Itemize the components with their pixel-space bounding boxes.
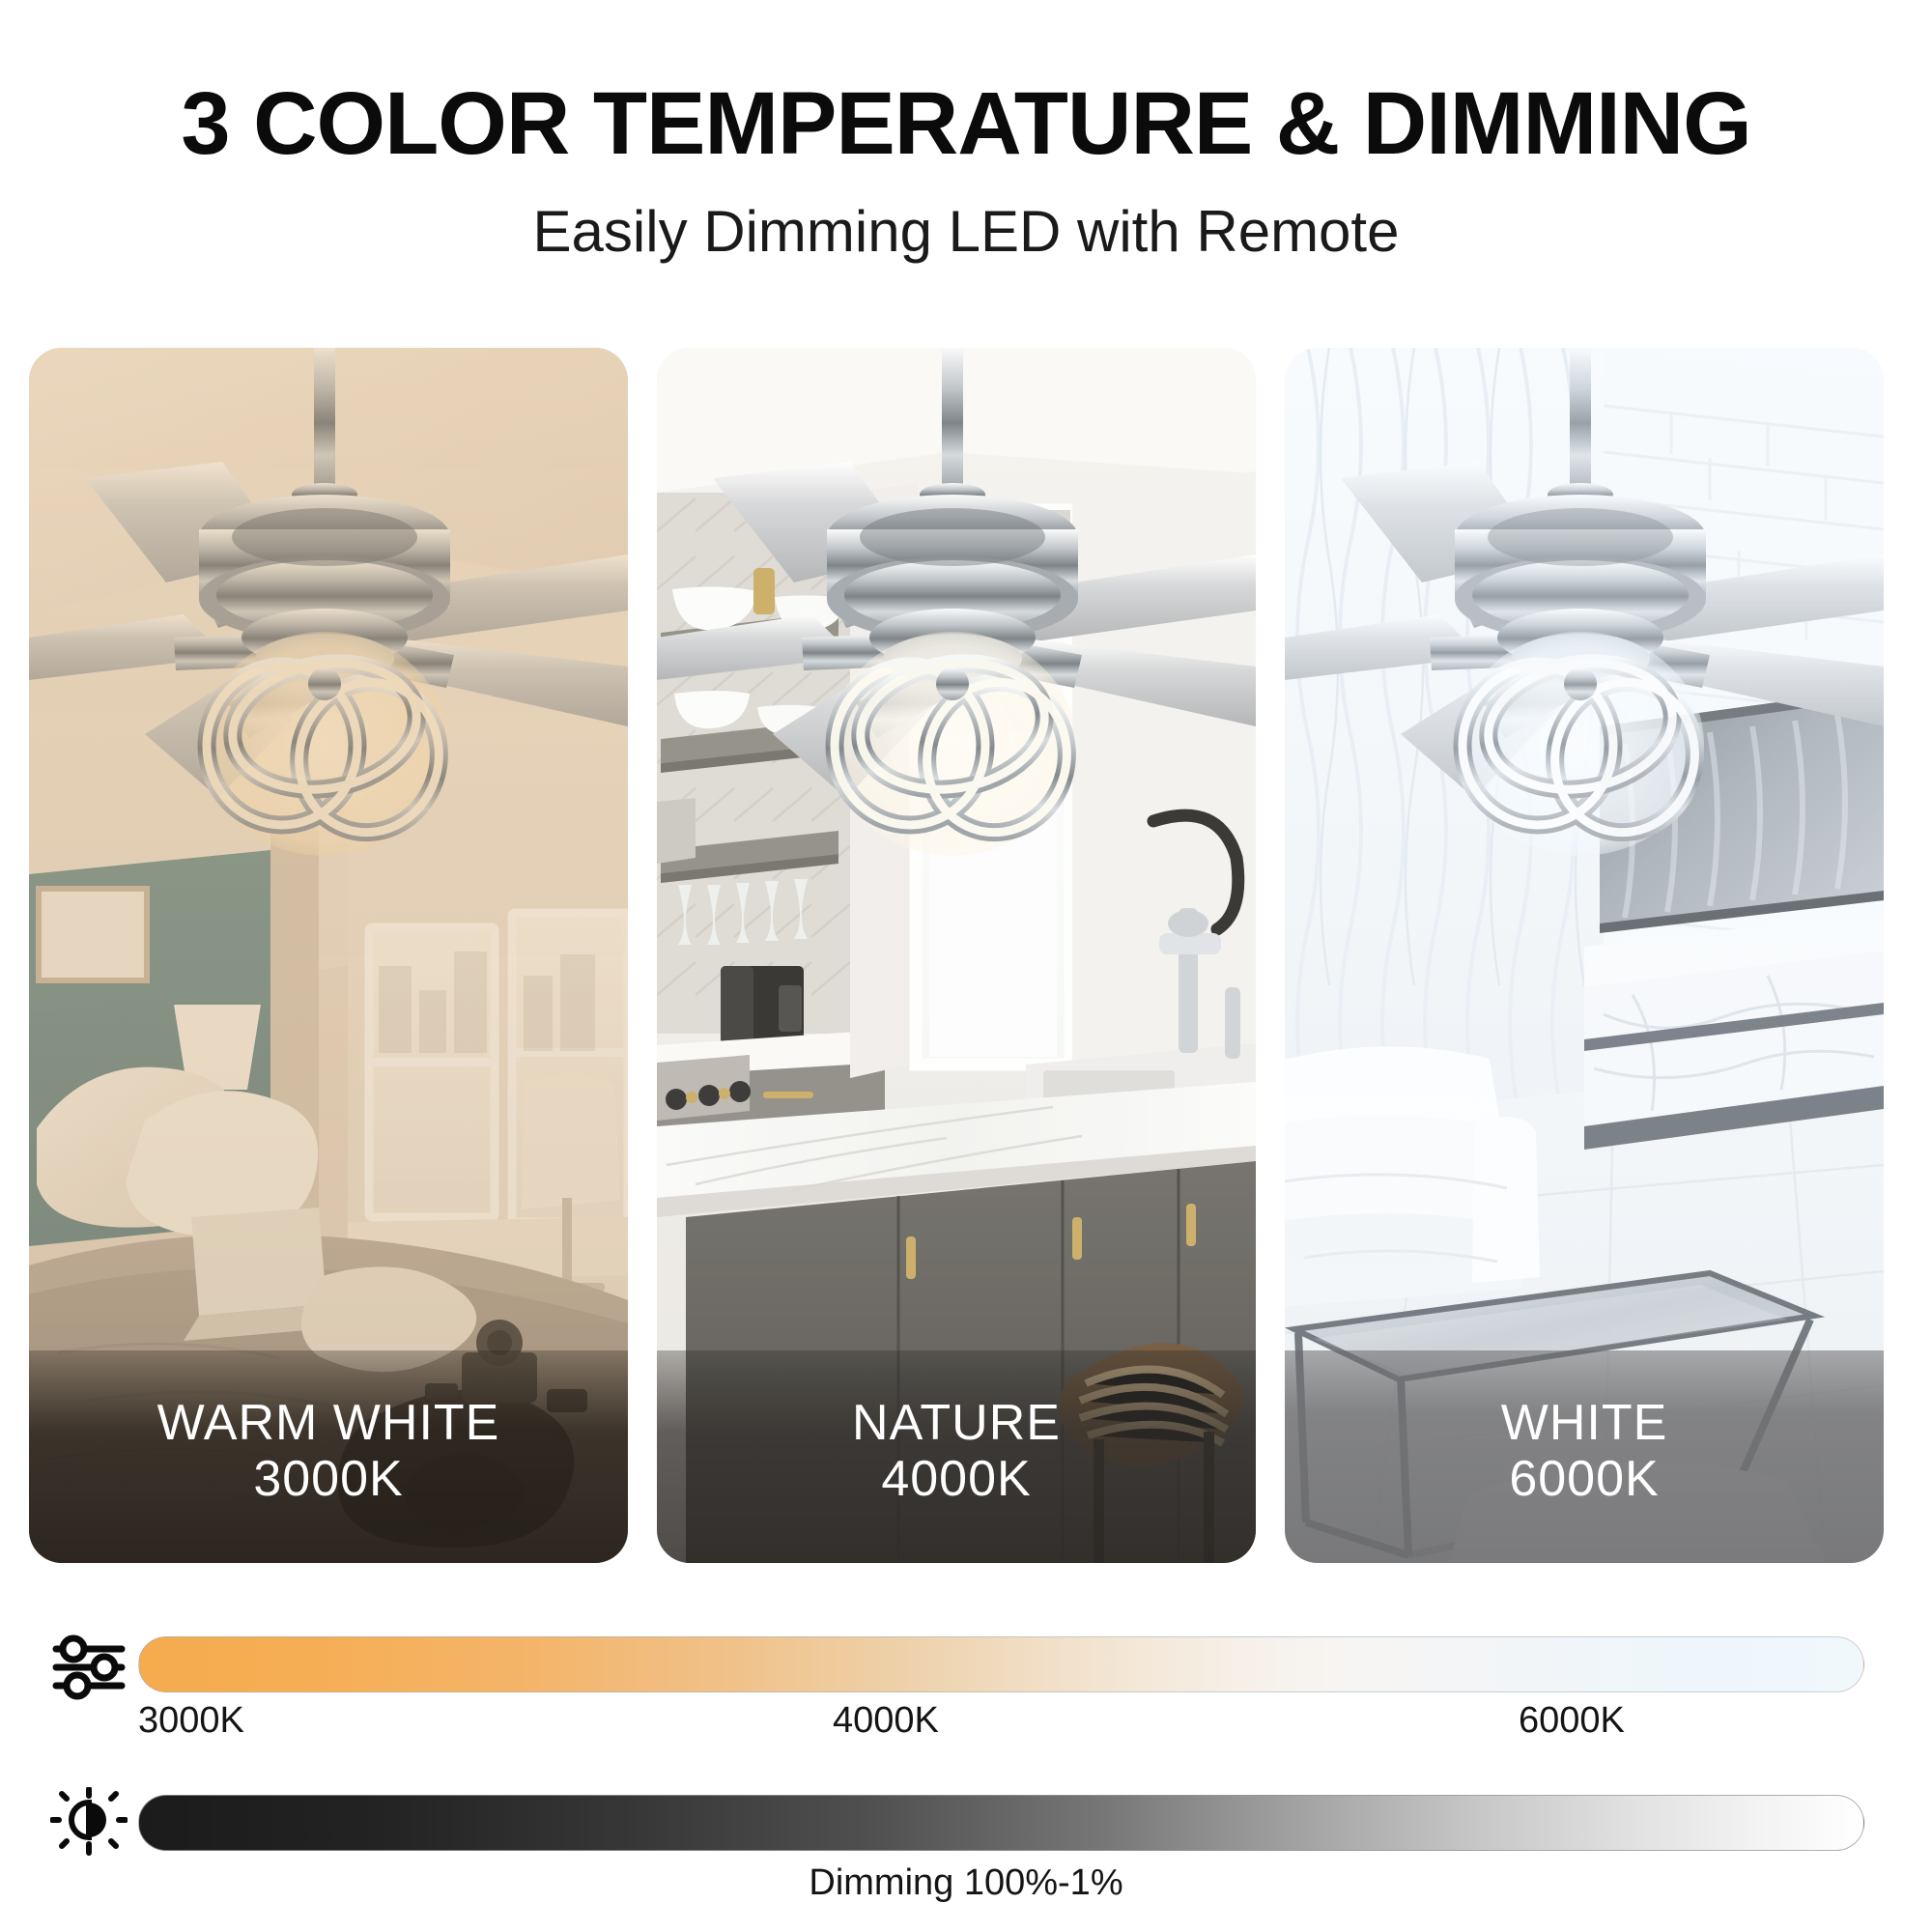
tick-label-4000k: 4000K — [833, 1700, 939, 1742]
card-temperature: 4000K — [881, 1451, 1031, 1507]
ceiling-fan-nature — [657, 348, 1256, 889]
sliders-icon — [50, 1629, 128, 1706]
card-caption-white: WHITE 6000K — [1285, 1350, 1884, 1563]
scene-card-nature[interactable]: NATURE 4000K — [657, 348, 1256, 1563]
page-subtitle: Easily Dimming LED with Remote — [0, 168, 1932, 261]
temperature-bar-row: 3000K 4000K 6000K — [0, 1623, 1932, 1739]
dimming-caption: Dimming 100%-1% — [0, 1862, 1932, 1904]
infographic-page: 3 COLOR TEMPERATURE & DIMMING Easily Dim… — [0, 0, 1932, 1932]
dimming-bar-row: Dimming 100%-1% — [0, 1781, 1932, 1897]
card-label: NATURE — [852, 1395, 1061, 1451]
card-caption-warm-white: WARM WHITE 3000K — [29, 1350, 628, 1563]
ceiling-fan-white — [1285, 348, 1884, 889]
card-caption-nature: NATURE 4000K — [657, 1350, 1256, 1563]
card-label: WHITE — [1501, 1395, 1668, 1451]
tick-label-3000k: 3000K — [138, 1700, 244, 1742]
page-title: 3 COLOR TEMPERATURE & DIMMING — [0, 0, 1932, 168]
card-label: WARM WHITE — [157, 1395, 500, 1451]
scene-card-list: WARM WHITE 3000K — [29, 348, 1903, 1563]
brightness-icon — [50, 1787, 128, 1864]
card-temperature: 3000K — [253, 1451, 403, 1507]
temperature-tick-labels: 3000K 4000K 6000K — [0, 1700, 1932, 1750]
card-temperature: 6000K — [1509, 1451, 1659, 1507]
slider-bars: 3000K 4000K 6000K — [0, 1623, 1932, 1897]
scene-card-white[interactable]: WHITE 6000K — [1285, 348, 1884, 1563]
color-temperature-slider[interactable] — [138, 1636, 1864, 1692]
tick-label-6000k: 6000K — [1519, 1700, 1625, 1742]
dimming-slider[interactable] — [138, 1795, 1864, 1851]
ceiling-fan-warm — [29, 348, 628, 889]
scene-card-warm-white[interactable]: WARM WHITE 3000K — [29, 348, 628, 1563]
header: 3 COLOR TEMPERATURE & DIMMING Easily Dim… — [0, 0, 1932, 261]
